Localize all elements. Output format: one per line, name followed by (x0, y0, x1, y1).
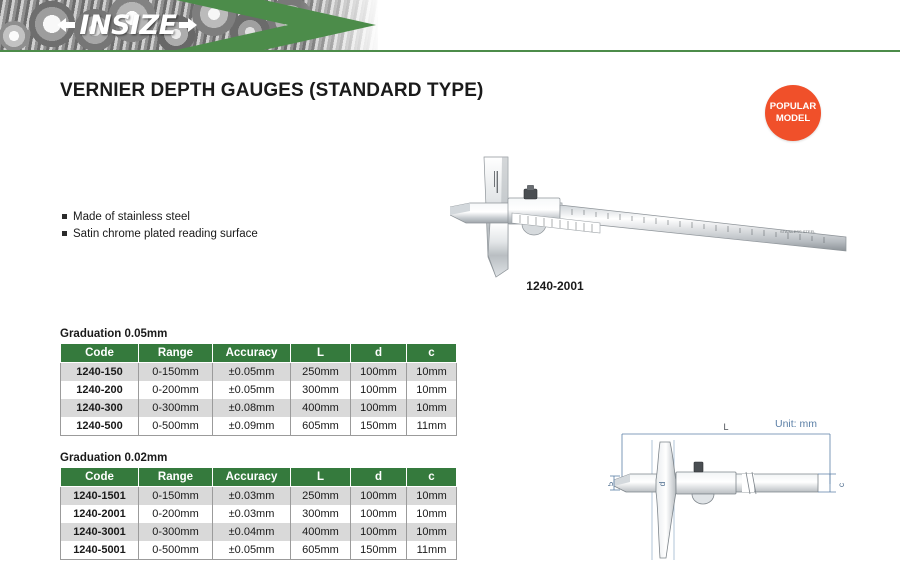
cell-code: 1240-500 (61, 417, 139, 436)
table-row: 1240-150 0-150mm ±0.05mm 250mm 100mm 10m… (61, 363, 457, 382)
square-bullet-icon (62, 214, 67, 219)
cell-code: 1240-300 (61, 399, 139, 417)
cell-c: 10mm (407, 399, 457, 417)
cell-range: 0-200mm (139, 381, 213, 399)
product-photo-depth-gauge: STAINLESS STEEL (450, 145, 850, 280)
table-caption: Graduation 0.02mm (60, 452, 457, 464)
cell-accuracy: ±0.04mm (213, 523, 291, 541)
cell-l: 605mm (291, 417, 351, 436)
cell-code: 1240-1501 (61, 487, 139, 506)
cell-d: 100mm (351, 505, 407, 523)
table-row: 1240-1501 0-150mm ±0.03mm 250mm 100mm 10… (61, 487, 457, 506)
cell-range: 0-150mm (139, 487, 213, 506)
table-row: 1240-5001 0-500mm ±0.05mm 605mm 150mm 11… (61, 541, 457, 560)
page-header-banner: INSIZE (0, 0, 900, 52)
table-row: 1240-3001 0-300mm ±0.04mm 400mm 100mm 10… (61, 523, 457, 541)
cell-accuracy: ±0.05mm (213, 381, 291, 399)
spec-table-graduation-005: Code Range Accuracy L d c 1240-150 0-150… (60, 343, 457, 436)
dimension-label-5: 5 (608, 481, 615, 486)
page-title: VERNIER DEPTH GAUGES (STANDARD TYPE) (60, 80, 483, 102)
cell-range: 0-500mm (139, 541, 213, 560)
list-item: Satin chrome plated reading surface (62, 226, 362, 242)
cell-l: 400mm (291, 399, 351, 417)
cell-d: 100mm (351, 363, 407, 382)
cell-d: 100mm (351, 523, 407, 541)
cell-c: 10mm (407, 363, 457, 382)
column-header-accuracy: Accuracy (213, 344, 291, 363)
cell-accuracy: ±0.08mm (213, 399, 291, 417)
cell-c: 10mm (407, 381, 457, 399)
table-header-row: Code Range Accuracy L d c (61, 344, 457, 363)
cell-d: 150mm (351, 541, 407, 560)
column-header-d: d (351, 344, 407, 363)
cell-range: 0-150mm (139, 363, 213, 382)
square-bullet-icon (62, 231, 67, 236)
cell-code: 1240-200 (61, 381, 139, 399)
popular-model-badge: POPULAR MODEL (765, 85, 821, 141)
table-header-row: Code Range Accuracy L d c (61, 468, 457, 487)
cell-l: 605mm (291, 541, 351, 560)
cell-c: 10mm (407, 505, 457, 523)
cell-accuracy: ±0.09mm (213, 417, 291, 436)
insize-logo: INSIZE (48, 10, 208, 40)
cell-l: 300mm (291, 505, 351, 523)
column-header-range: Range (139, 344, 213, 363)
column-header-l: L (291, 468, 351, 487)
cell-d: 150mm (351, 417, 407, 436)
cell-d: 100mm (351, 399, 407, 417)
cell-code: 1240-150 (61, 363, 139, 382)
column-header-c: c (407, 468, 457, 487)
cell-l: 400mm (291, 523, 351, 541)
arrow-left-icon (57, 16, 77, 34)
cell-d: 100mm (351, 487, 407, 506)
cell-accuracy: ±0.03mm (213, 487, 291, 506)
table-row: 1240-200 0-200mm ±0.05mm 300mm 100mm 10m… (61, 381, 457, 399)
column-header-d: d (351, 468, 407, 487)
spec-table-graduation-002: Code Range Accuracy L d c 1240-1501 0-15… (60, 467, 457, 560)
cell-code: 1240-2001 (61, 505, 139, 523)
list-item: Made of stainless steel (62, 209, 362, 225)
brand-text: INSIZE (79, 10, 176, 41)
header-divider-line (0, 50, 900, 52)
cell-accuracy: ±0.05mm (213, 541, 291, 560)
feature-text: Satin chrome plated reading surface (73, 226, 258, 242)
dimension-drawing: L 5 d c (608, 412, 898, 562)
dimension-label-L: L (723, 422, 728, 432)
cell-range: 0-300mm (139, 399, 213, 417)
cell-range: 0-300mm (139, 523, 213, 541)
table-row: 1240-2001 0-200mm ±0.03mm 300mm 100mm 10… (61, 505, 457, 523)
feature-list: Made of stainless steel Satin chrome pla… (62, 209, 362, 243)
product-caption: 1240-2001 (455, 279, 655, 293)
column-header-code: Code (61, 468, 139, 487)
badge-line-2: MODEL (776, 113, 810, 125)
table-caption: Graduation 0.05mm (60, 328, 457, 340)
table-row: 1240-500 0-500mm ±0.09mm 605mm 150mm 11m… (61, 417, 457, 436)
spec-table-block-2: Graduation 0.02mm Code Range Accuracy L … (60, 452, 457, 560)
column-header-c: c (407, 344, 457, 363)
cell-l: 300mm (291, 381, 351, 399)
cell-range: 0-500mm (139, 417, 213, 436)
svg-text:STAINLESS STEEL: STAINLESS STEEL (780, 229, 816, 234)
cell-c: 10mm (407, 487, 457, 506)
cell-l: 250mm (291, 487, 351, 506)
column-header-code: Code (61, 344, 139, 363)
unit-label: Unit: mm (775, 418, 817, 430)
cell-accuracy: ±0.05mm (213, 363, 291, 382)
badge-line-1: POPULAR (770, 101, 816, 113)
column-header-l: L (291, 344, 351, 363)
dimension-label-c: c (836, 482, 846, 487)
cell-accuracy: ±0.03mm (213, 505, 291, 523)
cell-c: 11mm (407, 541, 457, 560)
feature-text: Made of stainless steel (73, 209, 190, 225)
arrow-right-icon (179, 16, 199, 34)
cell-c: 10mm (407, 523, 457, 541)
spec-table-block-1: Graduation 0.05mm Code Range Accuracy L … (60, 328, 457, 436)
column-header-range: Range (139, 468, 213, 487)
cell-range: 0-200mm (139, 505, 213, 523)
cell-d: 100mm (351, 381, 407, 399)
cell-c: 11mm (407, 417, 457, 436)
column-header-accuracy: Accuracy (213, 468, 291, 487)
cell-code: 1240-5001 (61, 541, 139, 560)
cell-l: 250mm (291, 363, 351, 382)
table-row: 1240-300 0-300mm ±0.08mm 400mm 100mm 10m… (61, 399, 457, 417)
dimension-label-d: d (657, 481, 667, 486)
cell-code: 1240-3001 (61, 523, 139, 541)
